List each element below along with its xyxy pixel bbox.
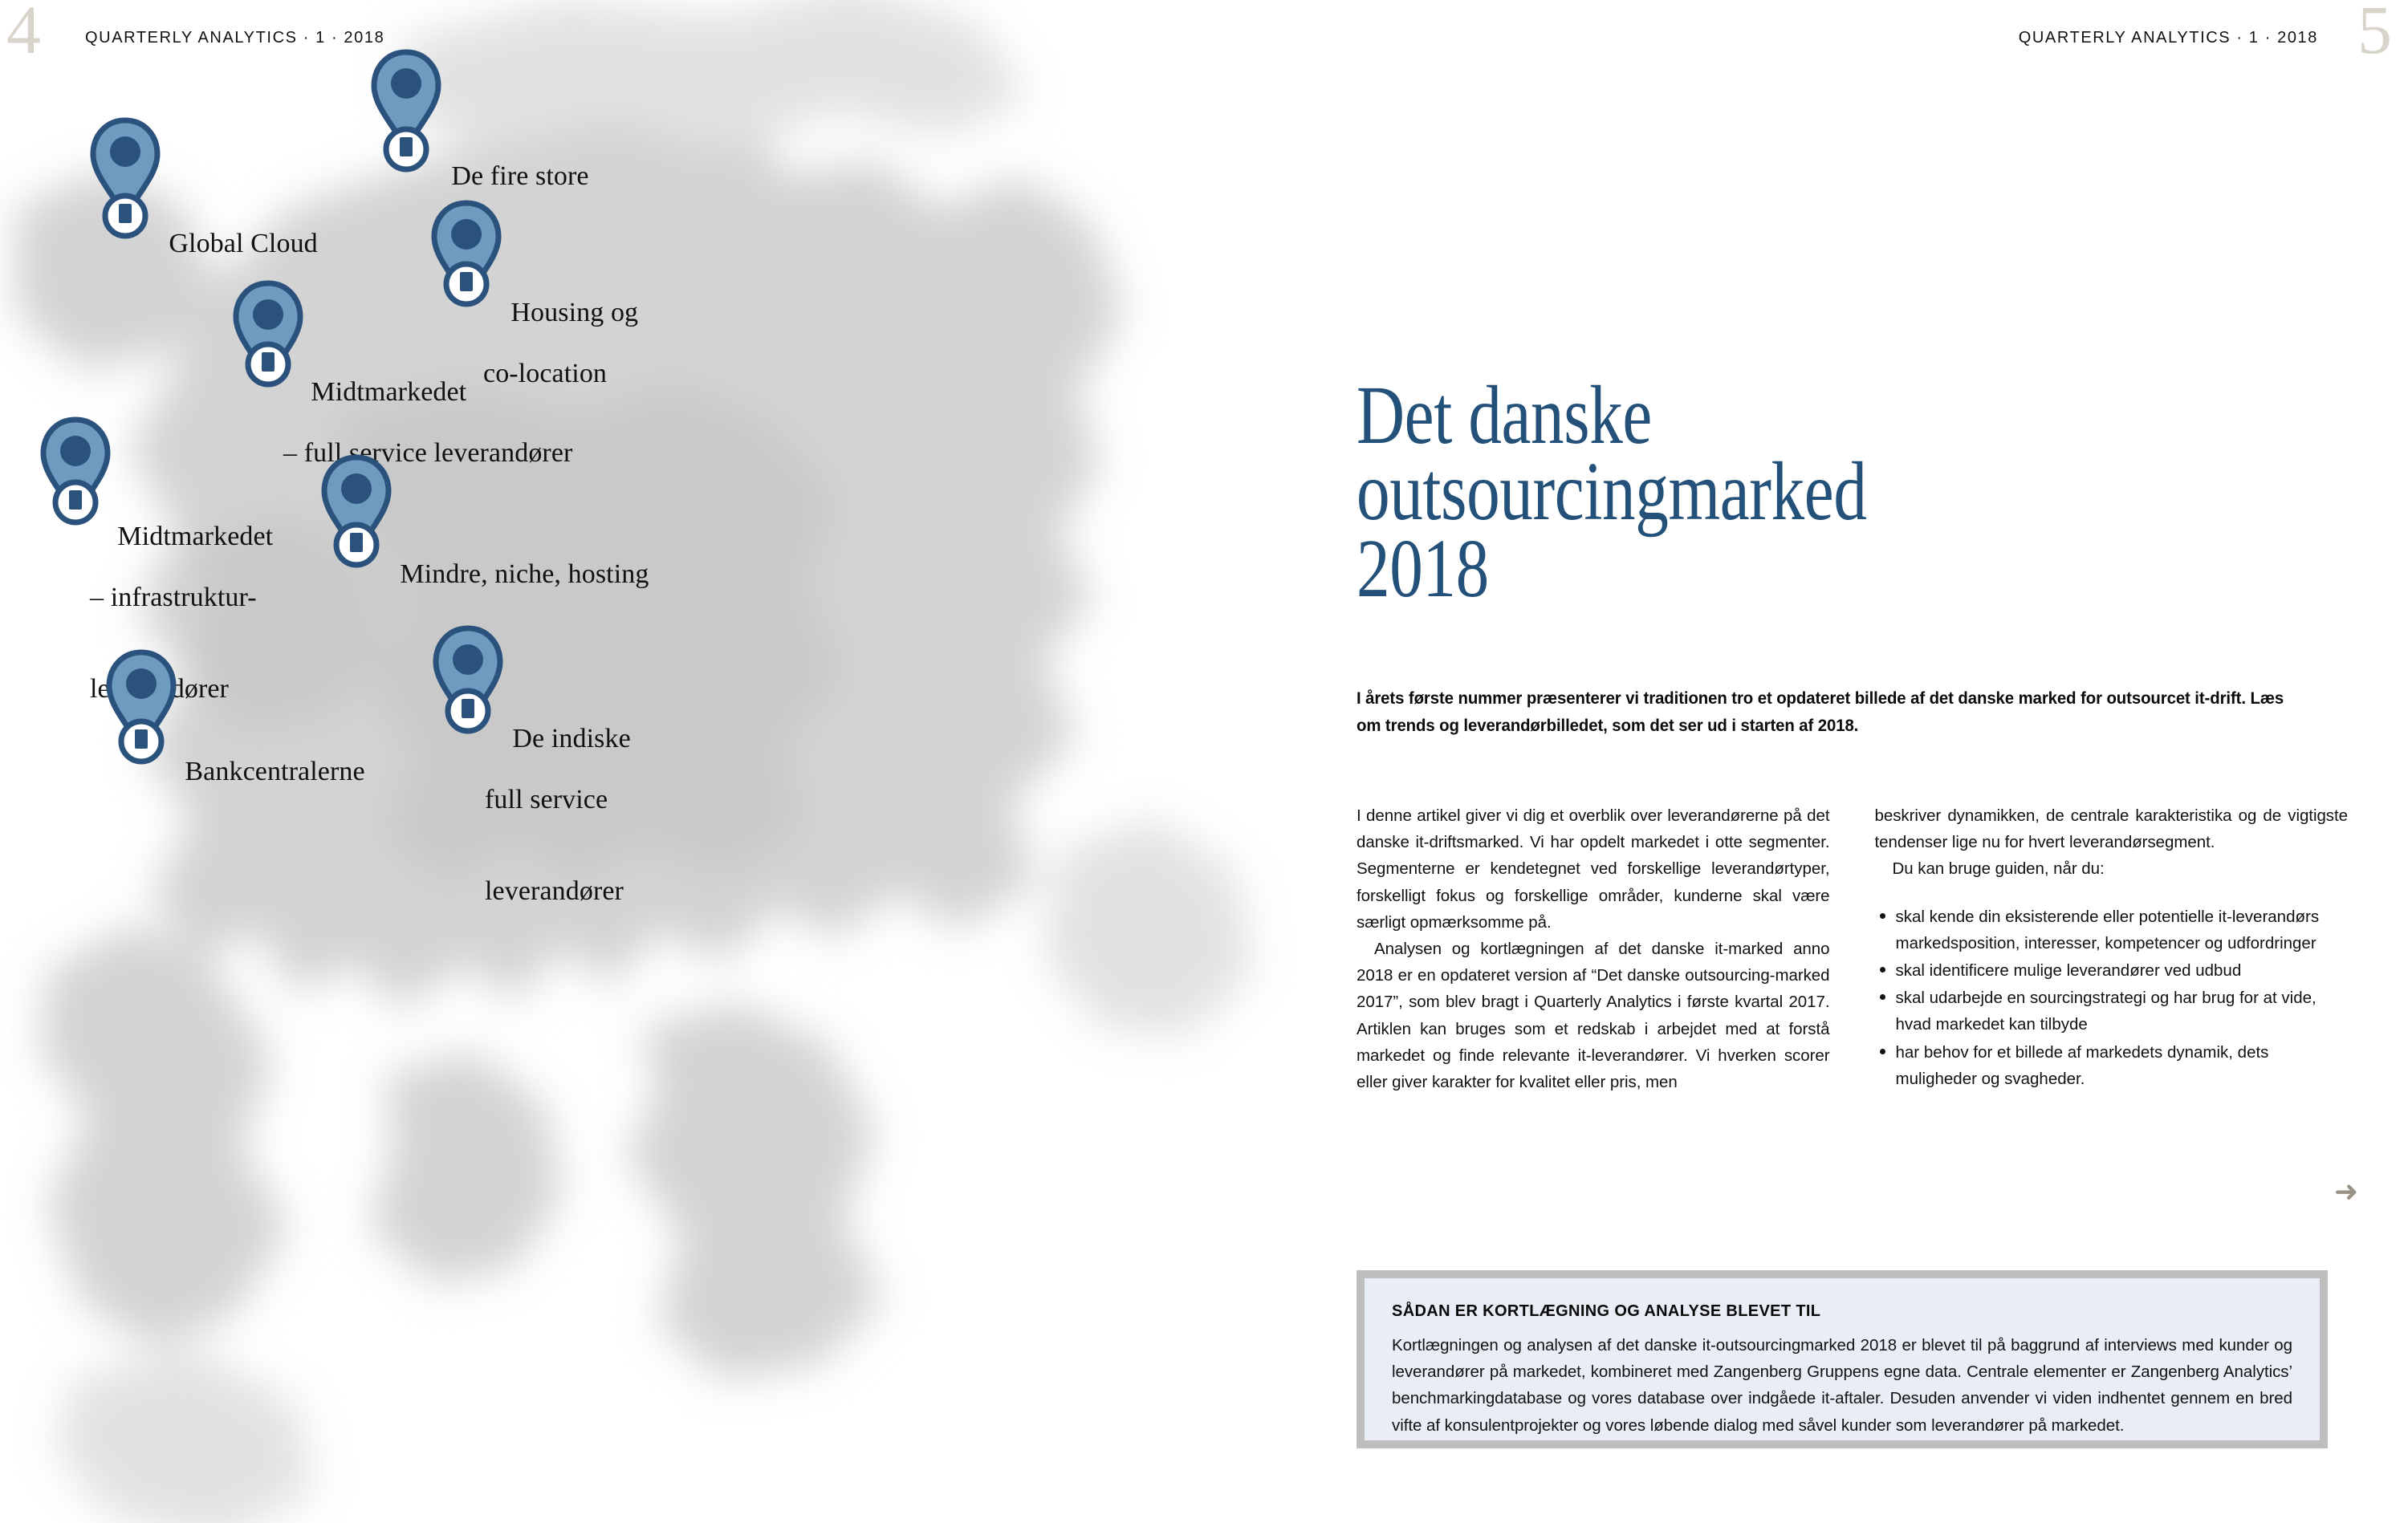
fact-box-title: SÅDAN ER KORTLÆGNING OG ANALYSE BLEVET T…: [1392, 1302, 2292, 1321]
pin-label-line: full service: [485, 785, 631, 815]
pin-label-line: De indiske: [512, 724, 630, 753]
pin-label-line: leverandører: [485, 876, 631, 907]
map-pin-label-global-cloud: Global Cloud: [141, 198, 318, 290]
bullet-item: skal udarbejde en sourcingstrategi og ha…: [1896, 985, 2349, 1038]
pin-label-line: De fire store: [451, 161, 588, 191]
fact-box: SÅDAN ER KORTLÆGNING OG ANALYSE BLEVET T…: [1357, 1270, 2328, 1448]
right-page-article: QUARTERLY ANALYTICS · 1 · 2018 5 Det dan…: [1316, 0, 2408, 1523]
bullet-item: skal kende din eksisterende eller potent…: [1896, 904, 2349, 956]
fact-box-body: Kortlægningen og analysen af det danske …: [1392, 1332, 2292, 1439]
left-page-map: 4 QUARTERLY ANALYTICS · 1 · 2018 De fire…: [0, 0, 1316, 1523]
map-pin-label-de-indiske-full-service: De indiske full service leverandører: [485, 693, 631, 969]
pin-label-line: Mindre, niche, hosting: [400, 559, 649, 589]
article-column-left: I denne artikel giver vi dig et overblik…: [1357, 802, 1830, 1095]
map-pin-label-mindre-niche-hosting: Mindre, niche, hosting: [372, 529, 649, 620]
article-column-right: beskriver dynamikken, de centrale karakt…: [1875, 802, 2349, 1095]
article-paragraph: I denne artikel giver vi dig et overblik…: [1357, 802, 1830, 936]
article-columns: I denne artikel giver vi dig et overblik…: [1357, 802, 2348, 1095]
article-bullet-list: skal kende din eksisterende eller potent…: [1875, 904, 2349, 1092]
pin-label-line: Bankcentralerne: [185, 757, 364, 786]
page-title-line-2: outsourcingmarked: [1357, 453, 2358, 530]
bullet-item: har behov for et billede af markedets dy…: [1896, 1039, 2349, 1092]
running-head-left: QUARTERLY ANALYTICS · 1 · 2018: [85, 29, 384, 47]
running-head-right: QUARTERLY ANALYTICS · 1 · 2018: [2019, 29, 2318, 47]
folio-page-5: 5: [2357, 0, 2392, 64]
article-paragraph: beskriver dynamikken, de centrale karakt…: [1875, 802, 2349, 855]
article-lede: I årets første nummer præsenterer vi tra…: [1357, 685, 2308, 740]
bullet-item: skal identificere mulige leverandører ve…: [1896, 957, 2349, 984]
page-title: Det danske outsourcingmarked 2018: [1357, 377, 2358, 607]
pin-label-line: – infrastruktur-: [90, 583, 273, 613]
fact-box-inner: SÅDAN ER KORTLÆGNING OG ANALYSE BLEVET T…: [1365, 1278, 2320, 1440]
page-title-line-1: Det danske: [1357, 377, 2358, 454]
map-pin-label-bankcentralerne: Bankcentralerne: [157, 726, 365, 818]
pin-label-line: Midtmarkedet: [311, 377, 466, 407]
folio-page-4: 4: [6, 0, 41, 64]
pin-label-line: Housing og: [510, 298, 638, 327]
article-paragraph: Analysen og kortlægningen af det danske …: [1357, 936, 1830, 1095]
article-paragraph: Du kan bruge guiden, når du:: [1875, 855, 2349, 882]
pin-label-line: Midtmarkedet: [117, 522, 273, 551]
pin-label-line: Global Cloud: [169, 229, 317, 258]
page-title-line-3: 2018: [1357, 530, 2358, 607]
continue-arrow-icon: ➜: [2334, 1178, 2358, 1207]
